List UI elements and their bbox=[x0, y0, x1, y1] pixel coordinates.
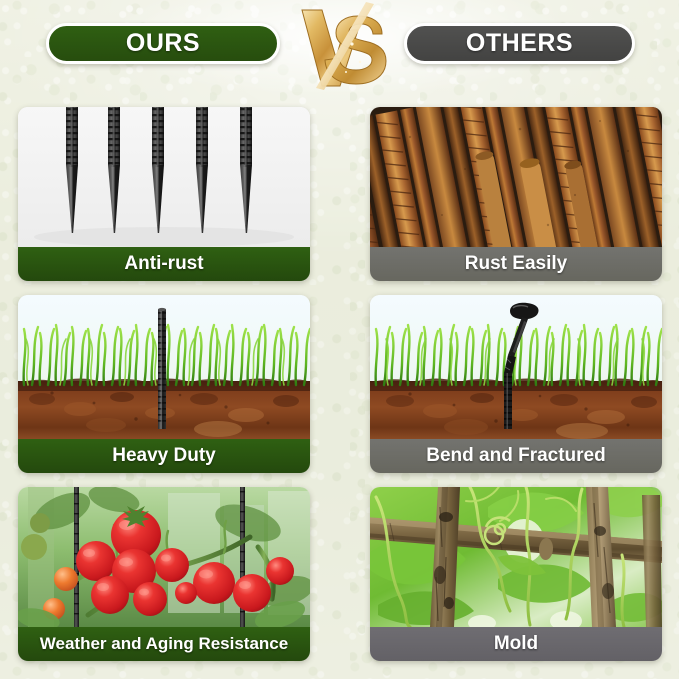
caption-weather-aging-resistance: Weather and Aging Resistance bbox=[18, 627, 310, 661]
card-rust-easily: Rust Easily bbox=[370, 107, 662, 281]
photo-straight-stake-in-soil bbox=[18, 295, 310, 439]
caption-mold: Mold bbox=[370, 627, 662, 661]
caption-anti-rust: Anti-rust bbox=[18, 247, 310, 281]
others-label: OTHERS bbox=[466, 29, 573, 58]
caption-text: Heavy Duty bbox=[112, 445, 216, 467]
photo-black-stakes bbox=[18, 107, 310, 247]
card-weather-aging-resistance: Weather and Aging Resistance bbox=[18, 487, 310, 661]
ours-badge: OURS bbox=[46, 23, 280, 64]
caption-rust-easily: Rust Easily bbox=[370, 247, 662, 281]
comparison-header: OURS bbox=[0, 0, 679, 92]
card-anti-rust: Anti-rust bbox=[18, 107, 310, 281]
card-mold: Mold bbox=[370, 487, 662, 661]
photo-wooden-stakes-with-leaves bbox=[370, 487, 662, 627]
caption-text: Bend and Fractured bbox=[426, 445, 605, 467]
vs-icon bbox=[294, 2, 394, 90]
others-badge: OTHERS bbox=[404, 23, 635, 64]
caption-text: Weather and Aging Resistance bbox=[40, 634, 288, 654]
comparison-grid: Anti-rust bbox=[18, 107, 662, 661]
card-heavy-duty: Heavy Duty bbox=[18, 295, 310, 473]
photo-bent-stake-in-soil bbox=[370, 295, 662, 439]
photo-rusty-rebar bbox=[370, 107, 662, 247]
card-bend-and-fractured: Bend and Fractured bbox=[370, 295, 662, 473]
ours-label: OURS bbox=[126, 29, 200, 58]
caption-heavy-duty: Heavy Duty bbox=[18, 439, 310, 473]
photo-tomatoes-on-vine bbox=[18, 487, 310, 627]
caption-text: Mold bbox=[494, 633, 538, 655]
caption-text: Anti-rust bbox=[124, 253, 203, 275]
caption-bend-and-fractured: Bend and Fractured bbox=[370, 439, 662, 473]
caption-text: Rust Easily bbox=[465, 253, 567, 275]
